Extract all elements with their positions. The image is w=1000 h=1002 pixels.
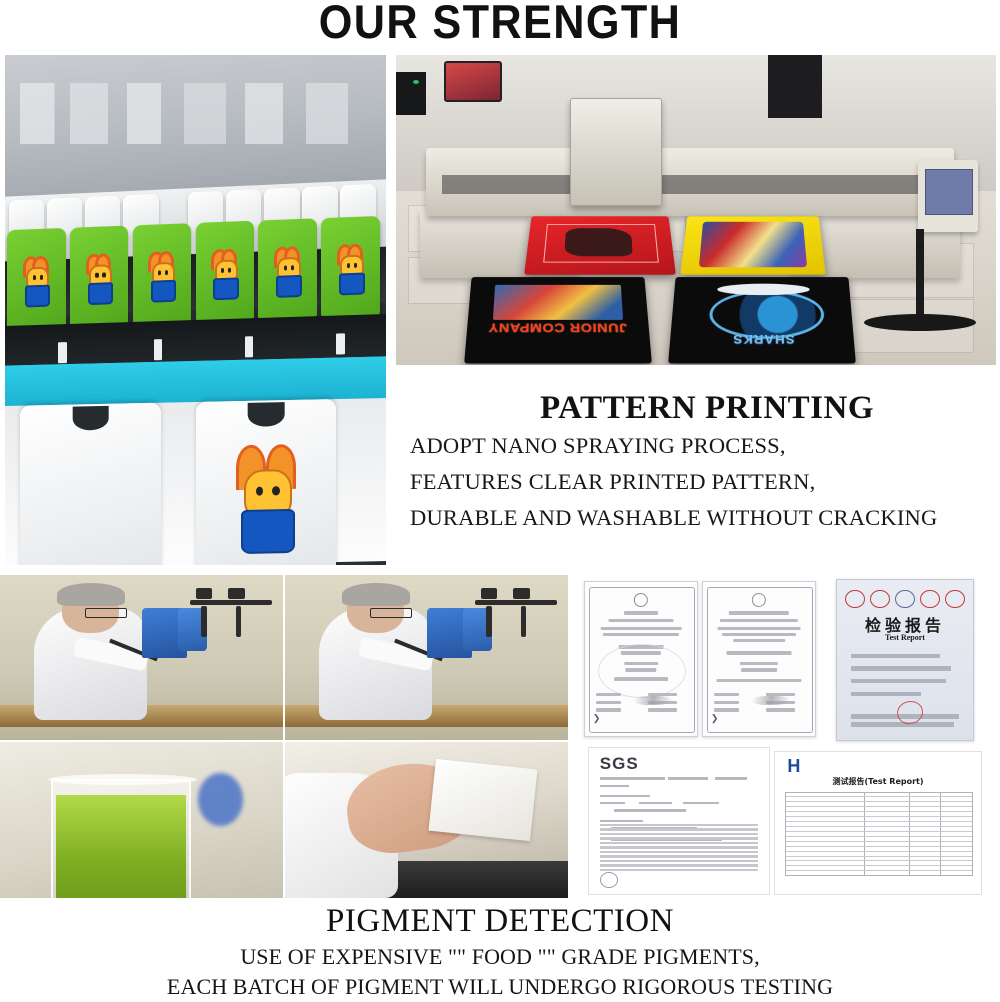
test-result-table bbox=[785, 792, 972, 876]
pigment-detection-heading: PIGMENT DETECTION bbox=[0, 900, 1000, 942]
pigment-detection-text-block: PIGMENT DETECTION USE OF EXPENSIVE "" FO… bbox=[0, 900, 1000, 1002]
white-shirt bbox=[196, 399, 337, 565]
printer-rail bbox=[442, 175, 938, 194]
pigment-detection-line-1: USE OF EXPENSIVE "" FOOD "" GRADE PIGMEN… bbox=[0, 942, 1000, 972]
print-head-carriage bbox=[570, 98, 662, 205]
photo-grid-lab bbox=[0, 575, 568, 898]
image-green-pigment-beaker bbox=[0, 742, 283, 898]
image-dtg-printer: JUNIOR COMPANY SHARKS bbox=[396, 55, 996, 365]
pattern-printing-line-1: ADOPT NANO SPRAYING PROCESS, bbox=[410, 428, 1000, 464]
poster-root: OUR STRENGTH bbox=[0, 0, 1000, 1000]
certificates-grid: ❯ ❯ bbox=[578, 575, 1000, 898]
shirt-collar bbox=[72, 406, 109, 431]
pigment-detection-line-2: EACH BATCH OF PIGMENT WILL UNDERGO RIGOR… bbox=[0, 972, 1000, 1002]
sgs-seal-icon bbox=[600, 872, 618, 889]
certification-stamps bbox=[845, 590, 965, 609]
stamp-cqc-icon bbox=[845, 590, 865, 609]
control-panel-screen[interactable] bbox=[925, 169, 973, 215]
image-hands-holding-paper bbox=[285, 742, 568, 898]
certificate-right: ❯ bbox=[702, 581, 816, 737]
bull-mascot-icon bbox=[211, 248, 238, 296]
printed-shirt-sharks: SHARKS bbox=[668, 277, 856, 363]
pattern-printing-heading: PATTERN PRINTING bbox=[414, 388, 1000, 428]
image-production-line bbox=[5, 55, 386, 565]
stamp-cnas-icon bbox=[895, 590, 915, 609]
wall-dark-shelf bbox=[768, 55, 822, 118]
stamp-ccc-icon bbox=[870, 590, 890, 609]
certificate-h-test-report: H 测试报告(Test Report) bbox=[774, 751, 982, 895]
bull-mascot-icon bbox=[274, 246, 301, 294]
page-title: OUR STRENGTH bbox=[40, 0, 960, 45]
bull-mascot-icon bbox=[336, 243, 363, 291]
shirt-artwork bbox=[493, 285, 623, 320]
green-shirt bbox=[7, 228, 66, 333]
beaker-icon bbox=[51, 779, 191, 898]
stamp-cma-icon bbox=[920, 590, 940, 609]
printer-gantry bbox=[426, 148, 954, 216]
shirt-artwork: SHARKS bbox=[703, 285, 824, 338]
shirt-artwork bbox=[698, 222, 807, 268]
front-white-shirts bbox=[5, 398, 386, 565]
bull-mascot-icon bbox=[235, 444, 297, 551]
green-shirt bbox=[133, 223, 192, 328]
wall-tablet-screen bbox=[444, 61, 502, 102]
bull-mascot-icon bbox=[148, 250, 175, 298]
printed-shirt-red bbox=[524, 216, 676, 275]
shirt-collar bbox=[248, 402, 285, 427]
stamp-cal-icon bbox=[945, 590, 965, 609]
bull-mascot-icon bbox=[22, 255, 49, 303]
sgs-logo: SGS bbox=[600, 754, 639, 774]
pattern-printing-line-2: FEATURES CLEAR PRINTED PATTERN, bbox=[410, 464, 1000, 500]
bull-mascot-icon bbox=[85, 253, 112, 301]
wall-black-box bbox=[396, 72, 426, 115]
green-shirt bbox=[258, 218, 317, 323]
green-shirt bbox=[321, 216, 380, 321]
test-report-title-en: Test Report bbox=[837, 633, 973, 642]
certificate-test-report: 检验报告 Test Report bbox=[836, 579, 974, 741]
shirt-artwork-text: JUNIOR COMPANY bbox=[474, 321, 643, 334]
pattern-printing-text-block: PATTERN PRINTING ADOPT NANO SPRAYING PRO… bbox=[396, 388, 1000, 536]
h-logo: H bbox=[787, 756, 800, 777]
h-report-title: 测试报告(Test Report) bbox=[775, 776, 981, 787]
white-shirt bbox=[20, 403, 161, 565]
printer-control-panel[interactable] bbox=[918, 160, 978, 231]
green-shirt bbox=[70, 225, 129, 330]
shirt-artwork bbox=[565, 228, 633, 256]
printed-shirt-junior-company: JUNIOR COMPANY bbox=[464, 277, 652, 363]
image-lab-scientist-right bbox=[285, 575, 568, 740]
floor-stand bbox=[916, 229, 924, 316]
shirt-artwork-text: SHARKS bbox=[703, 332, 825, 346]
certificate-sgs-report: SGS bbox=[588, 747, 770, 895]
image-lab-scientist-left bbox=[0, 575, 283, 740]
green-shirt bbox=[196, 221, 255, 326]
printed-shirt-yellow bbox=[680, 216, 826, 275]
certificate-left: ❯ bbox=[584, 581, 698, 737]
pattern-printing-line-3: DURABLE AND WASHABLE WITHOUT CRACKING bbox=[410, 500, 1000, 536]
